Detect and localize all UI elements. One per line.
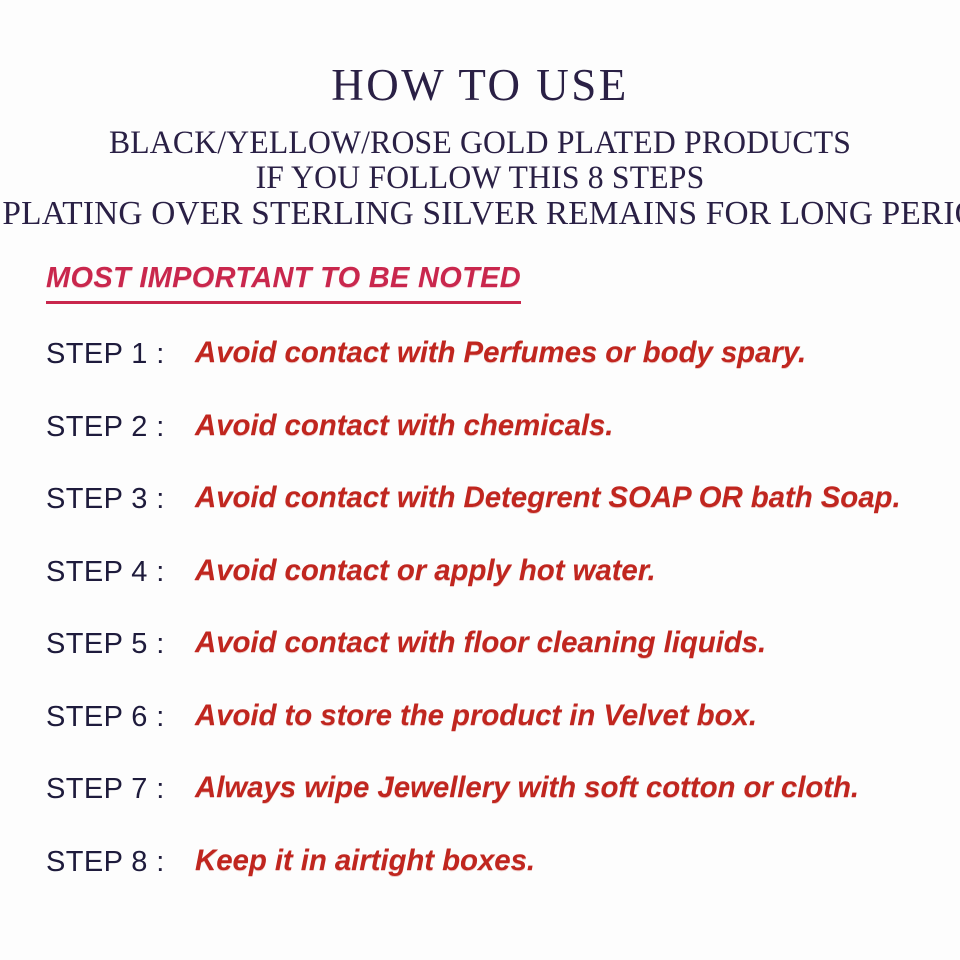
step-label: STEP 2 : <box>46 410 165 444</box>
step-label: STEP 4 : <box>46 555 165 589</box>
title-block: HOW TO USE <box>0 58 960 112</box>
step-row: STEP 7 : Always wipe Jewellery with soft… <box>0 772 960 845</box>
step-row: STEP 2 : Avoid contact with chemicals. <box>0 410 960 483</box>
step-row: STEP 6 : Avoid to store the product in V… <box>0 700 960 773</box>
notice-heading: MOST IMPORTANT TO BE NOTED <box>46 262 521 304</box>
step-row: STEP 4 : Avoid contact or apply hot wate… <box>0 555 960 628</box>
step-label: STEP 6 : <box>46 700 165 734</box>
subtitle-block: BLACK/YELLOW/ROSE GOLD PLATED PRODUCTS I… <box>0 126 960 231</box>
steps-list: STEP 1 : Avoid contact with Perfumes or … <box>0 337 960 917</box>
step-text: Avoid contact with chemicals. <box>195 409 613 443</box>
step-row: STEP 1 : Avoid contact with Perfumes or … <box>0 337 960 410</box>
page-title: HOW TO USE <box>0 58 960 112</box>
step-label: STEP 3 : <box>46 482 165 516</box>
step-row: STEP 8 : Keep it in airtight boxes. <box>0 845 960 918</box>
step-text: Avoid contact with floor cleaning liquid… <box>195 626 766 660</box>
step-text: Always wipe Jewellery with soft cotton o… <box>195 771 859 805</box>
step-label: STEP 1 : <box>46 337 165 371</box>
step-text: Keep it in airtight boxes. <box>195 844 535 878</box>
step-label: STEP 5 : <box>46 627 165 661</box>
step-label: STEP 8 : <box>46 845 165 879</box>
how-to-use-poster: HOW TO USE BLACK/YELLOW/ROSE GOLD PLATED… <box>0 0 960 960</box>
step-text: Avoid to store the product in Velvet box… <box>195 699 757 733</box>
subtitle-line-3: PLATING OVER STERLING SILVER REMAINS FOR… <box>2 196 957 231</box>
step-row: STEP 3 : Avoid contact with Detegrent SO… <box>0 482 960 555</box>
subtitle-line-1: BLACK/YELLOW/ROSE GOLD PLATED PRODUCTS <box>19 126 941 161</box>
step-text: Avoid contact or apply hot water. <box>195 554 656 588</box>
step-row: STEP 5 : Avoid contact with floor cleani… <box>0 627 960 700</box>
step-label: STEP 7 : <box>46 772 165 806</box>
step-text: Avoid contact with Perfumes or body spar… <box>195 336 806 370</box>
subtitle-line-2: IF YOU FOLLOW THIS 8 STEPS <box>19 161 941 196</box>
step-text: Avoid contact with Detegrent SOAP OR bat… <box>195 481 901 515</box>
